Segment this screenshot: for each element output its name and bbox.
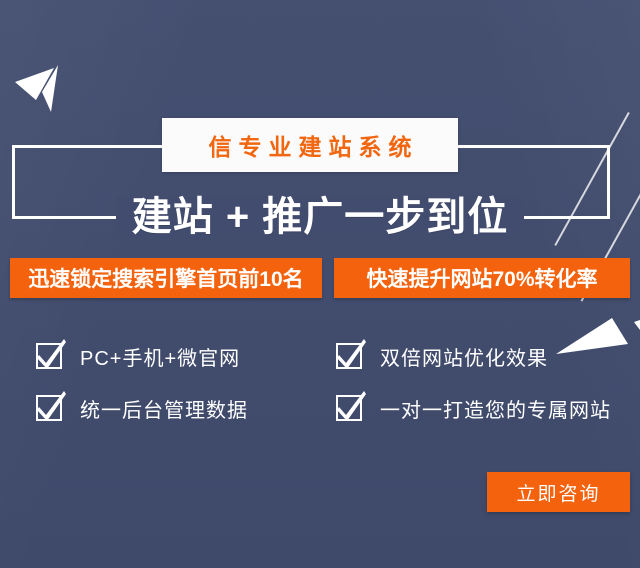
emphasis-bar-seo-ranking-text: 迅速锁定搜索引擎首页前10名: [28, 263, 303, 293]
feature-item-multi-platform: PC+手机+微官网: [36, 330, 336, 382]
emphasis-bar-conversion-rate-text: 快速提升网站70%转化率: [366, 263, 597, 293]
checked-checkbox-icon: [336, 343, 362, 369]
paper-plane-icon-left: [14, 60, 76, 114]
checked-checkbox-icon: [36, 395, 62, 421]
page-title: 建站 + 推广一步到位: [116, 197, 525, 237]
feature-list: PC+手机+微官网 双倍网站优化效果 统一后台管理数据: [36, 330, 640, 434]
feature-item-label: 一对一打造您的专属网站: [380, 394, 611, 423]
checked-checkbox-icon: [36, 343, 62, 369]
promo-banner: 信专业建站系统 建站 + 推广一步到位 迅速锁定搜索引擎首页前10名 快速提升网…: [0, 0, 640, 568]
headline-row: 建站 + 推广一步到位: [0, 186, 640, 248]
feature-item-one-on-one-custom: 一对一打造您的专属网站: [336, 382, 640, 434]
headline-badge-text: 信专业建站系统: [202, 128, 419, 162]
emphasis-bar-seo-ranking: 迅速锁定搜索引擎首页前10名: [10, 258, 322, 298]
feature-item-label: PC+手机+微官网: [80, 342, 240, 371]
emphasis-bar-group: 迅速锁定搜索引擎首页前10名 快速提升网站70%转化率: [10, 258, 630, 298]
emphasis-bar-conversion-rate: 快速提升网站70%转化率: [334, 258, 630, 298]
feature-item-label: 双倍网站优化效果: [380, 342, 548, 371]
feature-item-label: 统一后台管理数据: [80, 394, 248, 423]
consult-now-button[interactable]: 立即咨询: [487, 472, 630, 512]
headline-badge: 信专业建站系统: [162, 118, 458, 172]
feature-item-unified-backend: 统一后台管理数据: [36, 382, 336, 434]
checked-checkbox-icon: [336, 395, 362, 421]
feature-item-double-optimization: 双倍网站优化效果: [336, 330, 640, 382]
